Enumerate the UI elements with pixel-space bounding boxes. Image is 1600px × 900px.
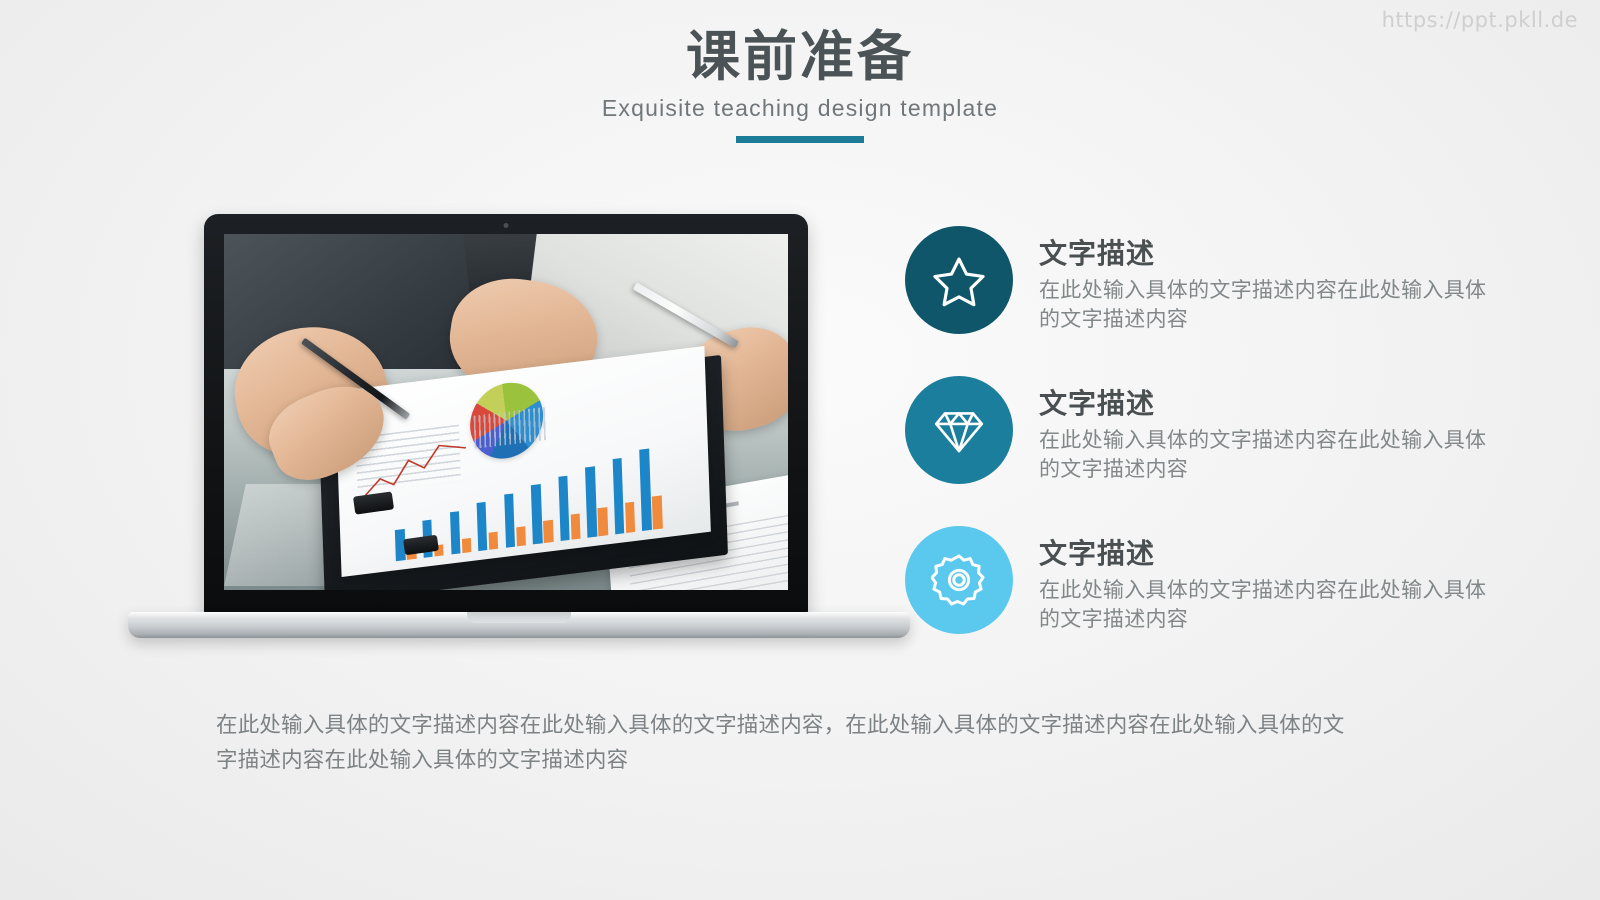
feature-icon-circle-3 — [905, 526, 1013, 634]
page-title: 课前准备 — [0, 28, 1600, 87]
feature-text-1: 文字描述 在此处输入具体的文字描述内容在此处输入具体的文字描述内容 — [1039, 226, 1499, 335]
feature-list: 文字描述 在此处输入具体的文字描述内容在此处输入具体的文字描述内容 文字描述 在… — [905, 226, 1525, 635]
laptop-lid — [204, 214, 808, 616]
photo-report-table — [473, 407, 548, 449]
photo-bar — [461, 538, 471, 553]
star-icon — [931, 252, 987, 308]
feature-item-star[interactable]: 文字描述 在此处输入具体的文字描述内容在此处输入具体的文字描述内容 — [905, 226, 1525, 335]
photo-bar — [612, 458, 624, 534]
feature-icon-circle-1 — [905, 226, 1013, 334]
feature-title: 文字描述 — [1039, 538, 1499, 570]
photo-bar — [652, 496, 662, 530]
laptop-base — [128, 612, 910, 638]
photo-bar — [625, 502, 635, 533]
photo-bar — [585, 467, 597, 538]
feature-item-gear[interactable]: 文字描述 在此处输入具体的文字描述内容在此处输入具体的文字描述内容 — [905, 526, 1525, 635]
feature-description: 在此处输入具体的文字描述内容在此处输入具体的文字描述内容 — [1039, 577, 1499, 635]
gear-icon — [931, 552, 987, 608]
bottom-description-paragraph: 在此处输入具体的文字描述内容在此处输入具体的文字描述内容，在此处输入具体的文字描… — [216, 708, 1366, 778]
photo-bar — [558, 476, 570, 541]
feature-icon-circle-2 — [905, 376, 1013, 484]
slide-header: 课前准备 Exquisite teaching design template — [0, 28, 1600, 143]
page-subtitle: Exquisite teaching design template — [0, 95, 1600, 122]
feature-title: 文字描述 — [1039, 388, 1499, 420]
feature-description: 在此处输入具体的文字描述内容在此处输入具体的文字描述内容 — [1039, 427, 1499, 485]
diamond-icon — [931, 402, 987, 458]
photo-bar — [597, 508, 607, 537]
photo-bar — [531, 485, 542, 545]
business-meeting-photo — [224, 234, 788, 590]
feature-description: 在此处输入具体的文字描述内容在此处输入具体的文字描述内容 — [1039, 277, 1499, 335]
photo-bar — [543, 520, 553, 543]
laptop-mockup — [128, 214, 910, 638]
photo-bar — [488, 532, 498, 550]
feature-text-3: 文字描述 在此处输入具体的文字描述内容在此处输入具体的文字描述内容 — [1039, 526, 1499, 635]
photo-bar — [516, 526, 526, 546]
feature-title: 文字描述 — [1039, 238, 1499, 270]
photo-bar — [449, 511, 460, 554]
laptop-screen — [224, 234, 788, 590]
feature-item-diamond[interactable]: 文字描述 在此处输入具体的文字描述内容在此处输入具体的文字描述内容 — [905, 376, 1525, 485]
photo-bar — [476, 502, 487, 551]
photo-bar — [639, 449, 651, 531]
photo-bar — [570, 514, 580, 540]
title-underline-rule — [736, 136, 864, 143]
photo-bar — [504, 493, 515, 547]
feature-text-2: 文字描述 在此处输入具体的文字描述内容在此处输入具体的文字描述内容 — [1039, 376, 1499, 485]
webcam-icon — [504, 223, 509, 228]
